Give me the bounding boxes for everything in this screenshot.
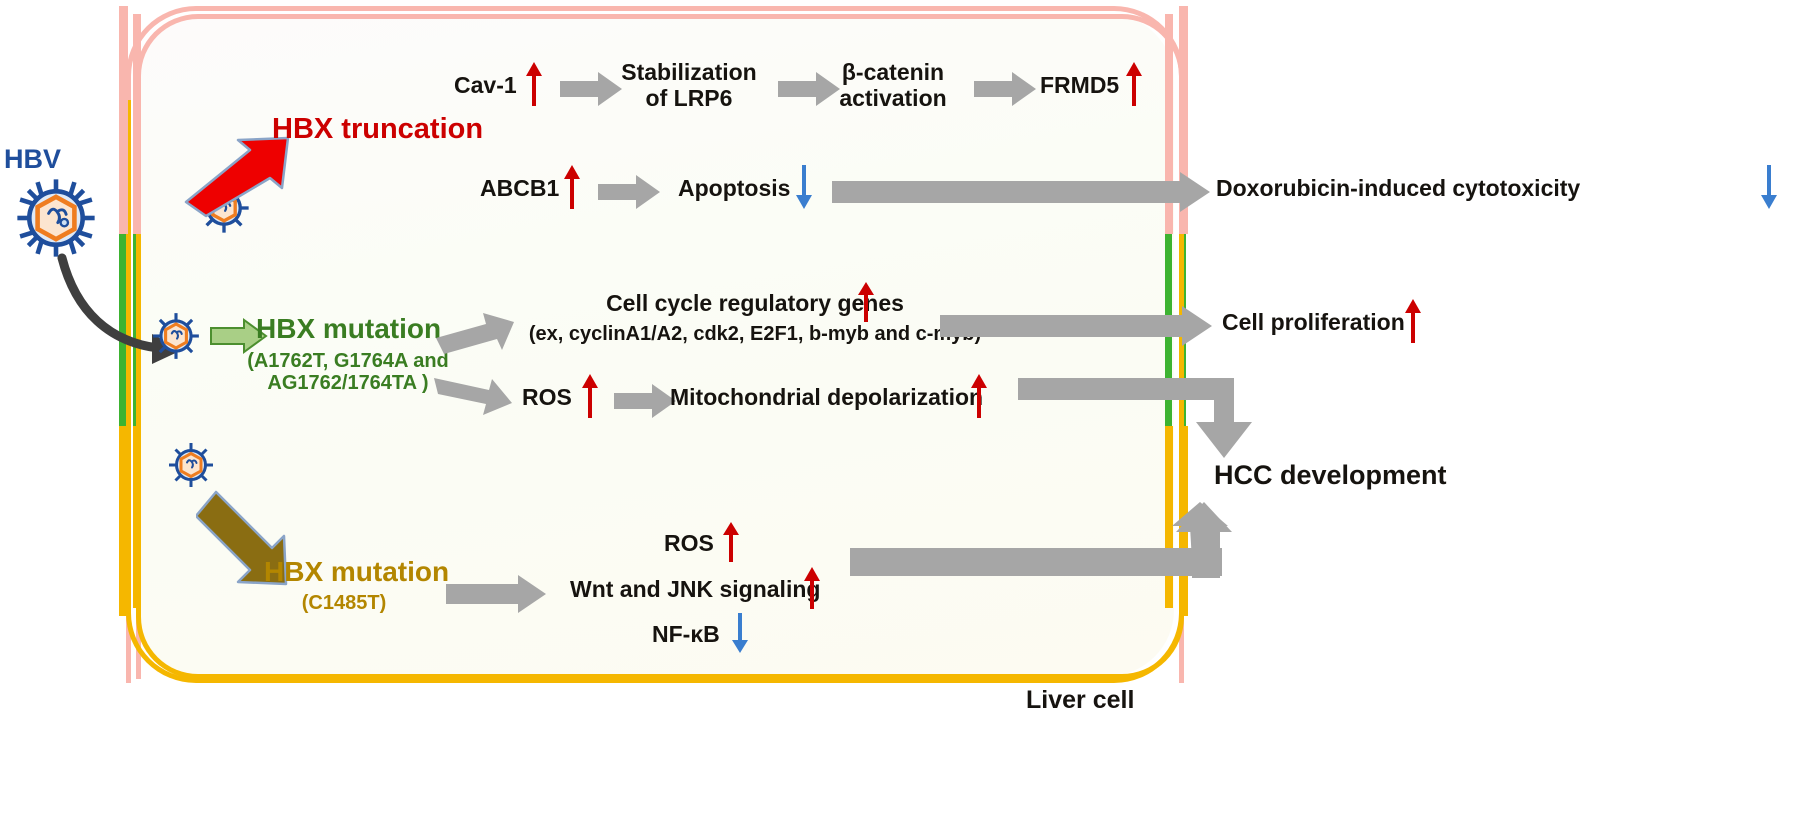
grey-arrow-ros-to-mito [614, 384, 676, 418]
nfkb-label: NF-κB [652, 622, 720, 648]
grey-arrow-to-cell-proliferation [940, 306, 1212, 346]
bcatenin-line1: β-catenin [842, 59, 944, 85]
green-codes-line1: (A1762T, G1764A and [247, 350, 449, 372]
hbx-mutation-gold-code: (C1485T) [214, 592, 474, 614]
mitochondrial-up-arrow [970, 372, 988, 420]
stabilization-line2: of LRP6 [646, 85, 733, 111]
wnt-jnk-signaling-label: Wnt and JNK signaling [570, 577, 820, 603]
mitochondrial-depolarization-label: Mitochondrial depolarization [670, 385, 983, 411]
apoptosis-down-arrow [795, 163, 813, 211]
grey-arrow-bcatenin-to-frmd5 [974, 72, 1036, 106]
cell-cycle-genes-label: Cell cycle regulatory genes [545, 291, 965, 317]
cav1-label: Cav-1 [454, 73, 517, 99]
stabilization-line1: Stabilization [621, 59, 756, 85]
cell-cycle-genes-up-arrow [857, 280, 875, 324]
frmd5-label: FRMD5 [1040, 73, 1119, 99]
grey-arrow-long-to-doxorubicin [832, 172, 1210, 212]
hbx-truncation-label: HBX truncation [272, 113, 483, 145]
hcc-development-label: HCC development [1214, 460, 1447, 490]
green-codes-line2: AG1762/1764TA ) [267, 372, 428, 394]
grey-arrow-gold-to-wnt [446, 575, 546, 613]
hbv-virus-icon-gold-mutation [166, 440, 216, 490]
bcatenin-line2: activation [839, 85, 946, 111]
doxorubicin-cytotoxicity-label: Doxorubicin-induced cytotoxicity [1216, 176, 1580, 202]
abcb1-up-arrow [563, 163, 581, 211]
grey-arrow-abcb1-to-apoptosis [598, 175, 660, 209]
cell-cycle-genes-examples: (ex, cyclinA1/A2, cdk2, E2F1, b-myb and … [495, 323, 1015, 345]
hbv-label: HBV [4, 144, 61, 174]
cell-proliferation-label: Cell proliferation [1222, 310, 1405, 336]
cell-proliferation-up-arrow [1404, 297, 1422, 345]
ros-mito-up-arrow [581, 372, 599, 420]
bcatenin-activation-label: β-catenin activation [808, 60, 978, 112]
hbx-mutation-green-label: HBX mutation [256, 313, 441, 344]
apoptosis-label: Apoptosis [678, 176, 790, 202]
pathway-diagram: HBV [0, 0, 1800, 826]
hbx-truncation-arrow [178, 134, 298, 225]
ros-bottom-label: ROS [664, 531, 714, 557]
membrane-gold-left-outer-seg [119, 426, 128, 616]
membrane-gold-left-inner-seg [133, 426, 141, 608]
grey-arrow-wnt-to-hcc [850, 502, 1290, 620]
grey-arrow-to-ros [432, 368, 514, 422]
membrane-pink-left-outer-seg [119, 6, 128, 234]
wnt-jnk-up-arrow [803, 565, 821, 611]
nfkb-down-arrow [731, 611, 749, 655]
frmd5-up-arrow [1125, 60, 1143, 108]
ros-bottom-up-arrow [722, 520, 740, 564]
doxorubicin-down-arrow [1760, 163, 1778, 211]
membrane-pink-left-inner-seg [133, 14, 141, 234]
abcb1-label: ABCB1 [480, 176, 559, 202]
grey-arrow-mito-to-hcc [1018, 378, 1278, 458]
ros-mito-label: ROS [522, 385, 572, 411]
cav1-up-arrow [525, 60, 543, 108]
liver-cell-label: Liver cell [1026, 686, 1134, 715]
hbx-mutation-gold-label: HBX mutation [264, 556, 449, 587]
stabilization-lrp6-label: Stabilization of LRP6 [599, 60, 779, 112]
